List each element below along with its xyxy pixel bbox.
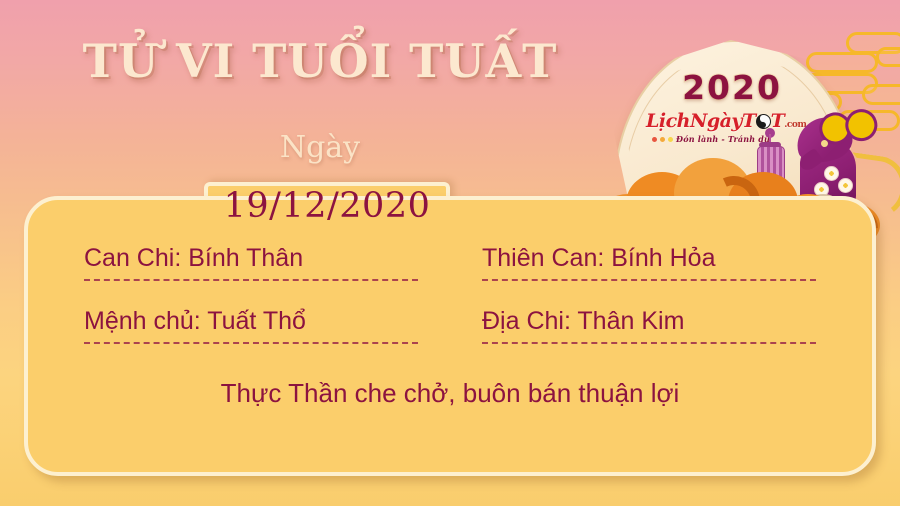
horoscope-card: 2020 LịchNgàyTT.com Đón lành - Tránh dữ bbox=[0, 0, 900, 506]
summary-text: Thực Thần che chở, buôn bán thuận lợi bbox=[84, 378, 816, 409]
field-row-1: Can Chi: Bính Thân Thiên Can: Bính Hỏa bbox=[84, 244, 816, 281]
field-dia-chi-text: Địa Chi: Thân Kim bbox=[482, 307, 816, 342]
cloud-bar-icon bbox=[876, 47, 900, 67]
field-divider bbox=[482, 342, 816, 344]
field-can-chi-text: Can Chi: Bính Thân bbox=[84, 244, 418, 279]
field-divider bbox=[482, 279, 816, 281]
year-label: 2020 bbox=[612, 68, 852, 107]
field-can-chi: Can Chi: Bính Thân bbox=[84, 244, 418, 281]
field-menh-chu: Mệnh chủ: Tuất Thổ bbox=[84, 307, 418, 344]
field-thien-can: Thiên Can: Bính Hỏa bbox=[482, 244, 816, 281]
logo-dots-icon bbox=[652, 137, 673, 142]
logo-wordmark: LịchNgàyTT.com bbox=[646, 110, 811, 132]
field-divider bbox=[84, 279, 418, 281]
cloud-bar-icon bbox=[862, 84, 900, 105]
field-thien-can-text: Thiên Can: Bính Hỏa bbox=[482, 244, 816, 279]
field-dia-chi: Địa Chi: Thân Kim bbox=[482, 307, 816, 344]
date-label: Ngày bbox=[0, 130, 640, 165]
logo-text-t1: T bbox=[742, 110, 756, 132]
field-divider bbox=[84, 342, 418, 344]
logo-text: LịchNgày bbox=[646, 110, 742, 132]
field-menh-chu-text: Mệnh chủ: Tuất Thổ bbox=[84, 307, 418, 342]
fields-container: Can Chi: Bính Thân Thiên Can: Bính Hỏa M… bbox=[24, 196, 876, 476]
logo-tagline: Đón lành - Tránh dữ bbox=[676, 134, 770, 144]
yinyang-icon bbox=[756, 114, 771, 129]
page-title: TỬ VI TUỔI TUẤT bbox=[0, 34, 640, 88]
field-row-2: Mệnh chủ: Tuất Thổ Địa Chi: Thân Kim bbox=[84, 307, 816, 344]
